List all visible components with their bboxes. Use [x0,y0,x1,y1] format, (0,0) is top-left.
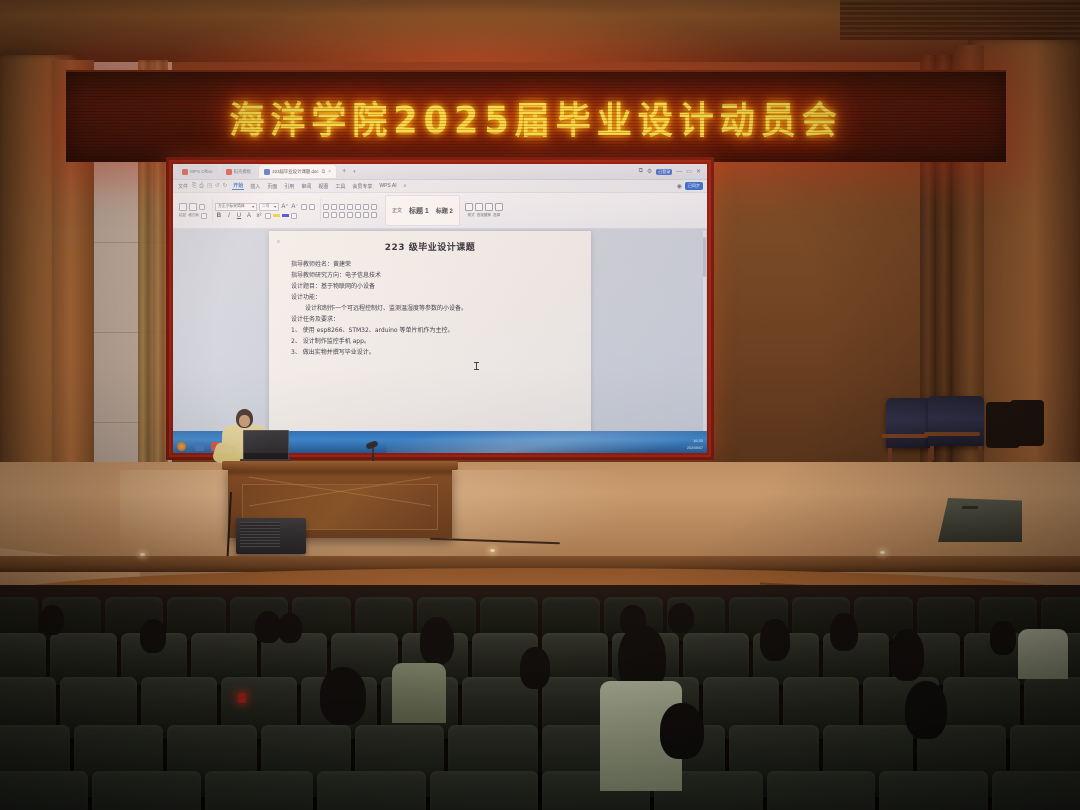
laptop-screen [243,430,289,460]
doc-file-icon [264,169,270,175]
preview-icon[interactable]: ◳ [207,183,212,189]
cloud-save-button[interactable]: 已同步 [685,182,703,190]
doc-line-design-topic: 设计题目：基于物联网的小设备 [291,281,569,292]
find-replace-label: 查找替换 [477,213,491,218]
led-banner: 海洋学院2025届毕业设计动员会 [66,70,1006,162]
align-left-icon[interactable] [323,212,329,218]
audience-head [320,667,366,725]
audience-head [905,681,947,739]
text-tools-icon[interactable] [495,203,503,211]
audience-head [520,647,550,689]
style-gallery: 正文 标题 1 标题 2 [385,195,460,226]
doc-line-research-field: 指导教师研究方向：电子信息技术 [291,270,569,281]
app-tab-wps-office[interactable]: WPS Office [177,165,218,178]
cut-icon[interactable] [199,204,205,210]
taskbar-app-icon[interactable] [195,442,204,451]
speaker-handle [962,506,978,509]
stage-edge-light [490,549,495,552]
wps-office-window: WPS Office 稻壳模板 223届毕业设计课题.doc ⧉ × + ▾ [173,164,707,453]
doc-requirement-item: 2、 设计制作监控手机 app。 [291,336,569,347]
font-name-select[interactable]: 方正小标宋简体 ▾ [215,203,257,211]
app-tab-label: 223届毕业设计课题.doc [272,169,318,175]
ribbon-group-paragraph [320,195,380,226]
taskbar-clock-time[interactable]: 16:30 [693,438,703,443]
text-effects-icon[interactable] [301,204,307,210]
ribbon-group-font: 方正小标宋简体 ▾ 二号 ▾ A⁺ A⁻ [212,195,318,226]
format-painter-icon[interactable] [201,213,207,219]
share-icon[interactable]: ⧉ [639,168,643,175]
italic-button[interactable]: I [225,213,233,219]
search-icon[interactable]: ⌕ [403,183,408,189]
podium-top-surface [222,461,458,470]
projection-screen-surface: WPS Office 稻壳模板 223届毕业设计课题.doc ⧉ × + ▾ [173,164,707,453]
font-color-icon[interactable] [282,214,289,217]
eye-icon[interactable]: ◉ [677,183,682,190]
chevron-down-icon: ▾ [252,204,254,209]
find-replace-icon[interactable] [475,203,483,211]
select-label: 选择 [493,213,500,218]
doc-requirement-item: 1、 使用 esp8266、STM32、arduino 等单片机作为主控。 [291,325,569,336]
strikethrough-button[interactable]: A [245,213,253,219]
ceiling-light-glow [150,0,770,62]
save-icon[interactable]: ⎘ [192,183,196,190]
vertical-scrollbar[interactable] [703,231,706,438]
align-right-icon[interactable] [339,212,345,218]
stage-monitor-speaker [938,498,1022,542]
start-button-icon[interactable] [177,442,186,451]
window-controls-group: ⧉ ⚙ 已登录 — ▭ ✕ [639,168,703,175]
audience-head [668,603,694,633]
document-canvas[interactable]: ≡ 223 级毕业设计课题 指导教师姓名：黄建荣 指导教师研究方向：电子信息技术… [173,229,707,440]
app-tab-docer[interactable]: 稻壳模板 [221,165,257,178]
borders-icon[interactable] [371,212,377,218]
minimize-button[interactable]: — [676,169,682,175]
print-icon[interactable]: ⎙ [199,183,203,190]
align-center-icon[interactable] [331,212,337,218]
text-border-icon[interactable] [291,213,297,219]
superscript-button[interactable]: x² [255,213,263,219]
clear-format-icon[interactable] [309,204,315,210]
auditorium-photo: 海洋学院2025届毕业设计动员会 WPS Office 稻壳模板 [0,0,1080,810]
floor-equipment-case [236,518,306,554]
style-heading-2[interactable]: 标题 2 [436,206,453,215]
banner-title-text: 海洋学院2025届毕业设计动员会 [229,90,842,144]
style-normal[interactable]: 正文 [392,207,402,214]
menu-tab-tools[interactable]: 工具 [334,183,346,190]
menu-tab-reference[interactable]: 引用 [283,183,295,190]
undo-icon[interactable]: ↺ [215,183,220,189]
paragraph-mark-icon: ≡ [277,239,280,245]
stage-armchair [928,396,984,446]
numbered-list-icon[interactable] [331,204,337,210]
audience-head [660,703,704,759]
highlight-icon[interactable] [273,214,280,217]
doc-requirements-heading: 设计任务及要求： [291,314,569,325]
stage-edge-light [880,551,885,554]
stage-edge-light [140,553,145,556]
wps-tab-bar: WPS Office 稻壳模板 223届毕业设计课题.doc ⧉ × + ▾ [173,164,707,180]
audience-shirt [392,663,446,723]
bullet-list-icon[interactable] [323,204,329,210]
sort-icon[interactable] [363,204,369,210]
decrease-indent-icon[interactable] [347,204,353,210]
audience-head [140,619,166,653]
menu-tab-page[interactable]: 页面 [266,183,278,190]
audience-head [990,621,1016,655]
shrink-font-button[interactable]: A⁻ [291,203,299,210]
account-badge[interactable]: 已登录 [656,169,672,175]
doc-line-design-function: 设计功能： [291,292,569,303]
menu-tab-insert[interactable]: 插入 [249,183,261,190]
style-pane-label: 样式 [467,213,474,218]
app-tab-document[interactable]: 223届毕业设计课题.doc ⧉ × [259,165,336,178]
floor-indicator-light [238,693,246,703]
stage-chair-dark [1010,400,1044,446]
paste-icon[interactable] [179,203,187,211]
app-tab-label: 稻壳模板 [234,169,252,175]
increase-indent-icon[interactable] [355,204,361,210]
tab-restore-icon[interactable]: ⧉ [322,169,326,175]
audience-head [420,617,454,665]
menu-tab-start[interactable]: 开始 [232,182,244,190]
justify-icon[interactable] [347,212,353,218]
audience-head [830,613,858,651]
underline-button[interactable]: U [235,213,243,219]
paste-label: 粘贴 [179,213,186,218]
document-page[interactable]: ≡ 223 级毕业设计课题 指导教师姓名：黄建荣 指导教师研究方向：电子信息技术… [269,231,591,434]
multilevel-list-icon[interactable] [339,204,345,210]
shading-icon[interactable] [363,212,369,218]
audience-head [40,605,64,635]
wps-logo-icon [182,169,188,175]
doc-line-teacher-name: 指导教师姓名：黄建荣 [291,259,569,270]
audience-seating [0,585,1080,810]
audience-head [760,619,790,661]
audience-shirt [1018,629,1068,679]
presenter-face [239,415,250,427]
menubar-right-group: ◉ 已同步 [677,182,703,190]
doc-body-paragraph: 设计和制作一个可远程控制灯、监测温湿度等参数的小设备。 [291,303,569,314]
style-heading-1[interactable]: 标题 1 [409,206,429,216]
wps-ribbon: 粘贴 格式刷 方正小标宋简体 ▾ 二号 [173,193,707,229]
ribbon-group-clipboard: 粘贴 格式刷 [176,195,210,226]
text-shading-icon[interactable] [265,213,271,219]
gear-icon[interactable]: ⚙ [647,168,652,175]
redo-icon[interactable]: ↻ [223,183,228,189]
maximize-button[interactable]: ▭ [686,168,692,175]
bold-button[interactable]: B [215,213,223,219]
docer-icon [226,169,232,175]
close-button[interactable]: ✕ [696,168,701,175]
style-pane-icon[interactable] [465,203,473,211]
doc-requirement-item: 3、 做出实物并撰写毕业设计。 [291,347,569,358]
equipment-grille [240,522,280,548]
menu-tab-review[interactable]: 审阅 [300,183,312,190]
menu-tab-view[interactable]: 视图 [317,183,329,190]
text-cursor-icon [476,362,477,370]
ceiling-vent-grille [840,0,1080,40]
select-objects-icon[interactable] [485,203,493,211]
taskbar-clock-date[interactable]: 2024/5/07 [687,446,703,450]
menu-tab-wps-ai[interactable]: WPS AI [378,183,397,189]
wps-menu-bar: 文件 ⎘ ⎙ ◳ ↺ ↻ 开始 插入 页面 引用 审阅 视图 工具 会员专享 [173,180,707,193]
audience-head [278,613,302,643]
quick-access-toolbar: 文件 ⎘ ⎙ ◳ ↺ ↻ [177,183,227,190]
chevron-down-icon[interactable]: ▾ [353,169,356,175]
line-spacing-icon[interactable] [355,212,361,218]
tab-close-icon[interactable]: × [328,169,331,175]
grow-font-button[interactable]: A⁺ [281,203,289,210]
chevron-down-icon: ▾ [274,204,276,209]
copy-icon[interactable] [189,203,197,211]
stage-armchair [886,398,934,448]
format-painter-label: 格式刷 [188,213,199,218]
menu-tab-member[interactable]: 会员专享 [351,183,373,190]
new-tab-button[interactable]: + [339,168,349,175]
audience-head [890,629,924,681]
font-size-select[interactable]: 二号 ▾ [259,203,279,211]
font-size-value: 二号 [262,204,270,209]
document-title: 223 级毕业设计课题 [291,240,569,253]
file-menu-button[interactable]: 文件 [177,183,189,190]
ribbon-group-editing: 样式 查找替换 选择 [462,195,506,226]
app-tab-label: WPS Office [190,169,213,174]
seat-row [0,771,1080,810]
show-marks-icon[interactable] [371,204,377,210]
font-name-value: 方正小标宋简体 [218,204,245,209]
